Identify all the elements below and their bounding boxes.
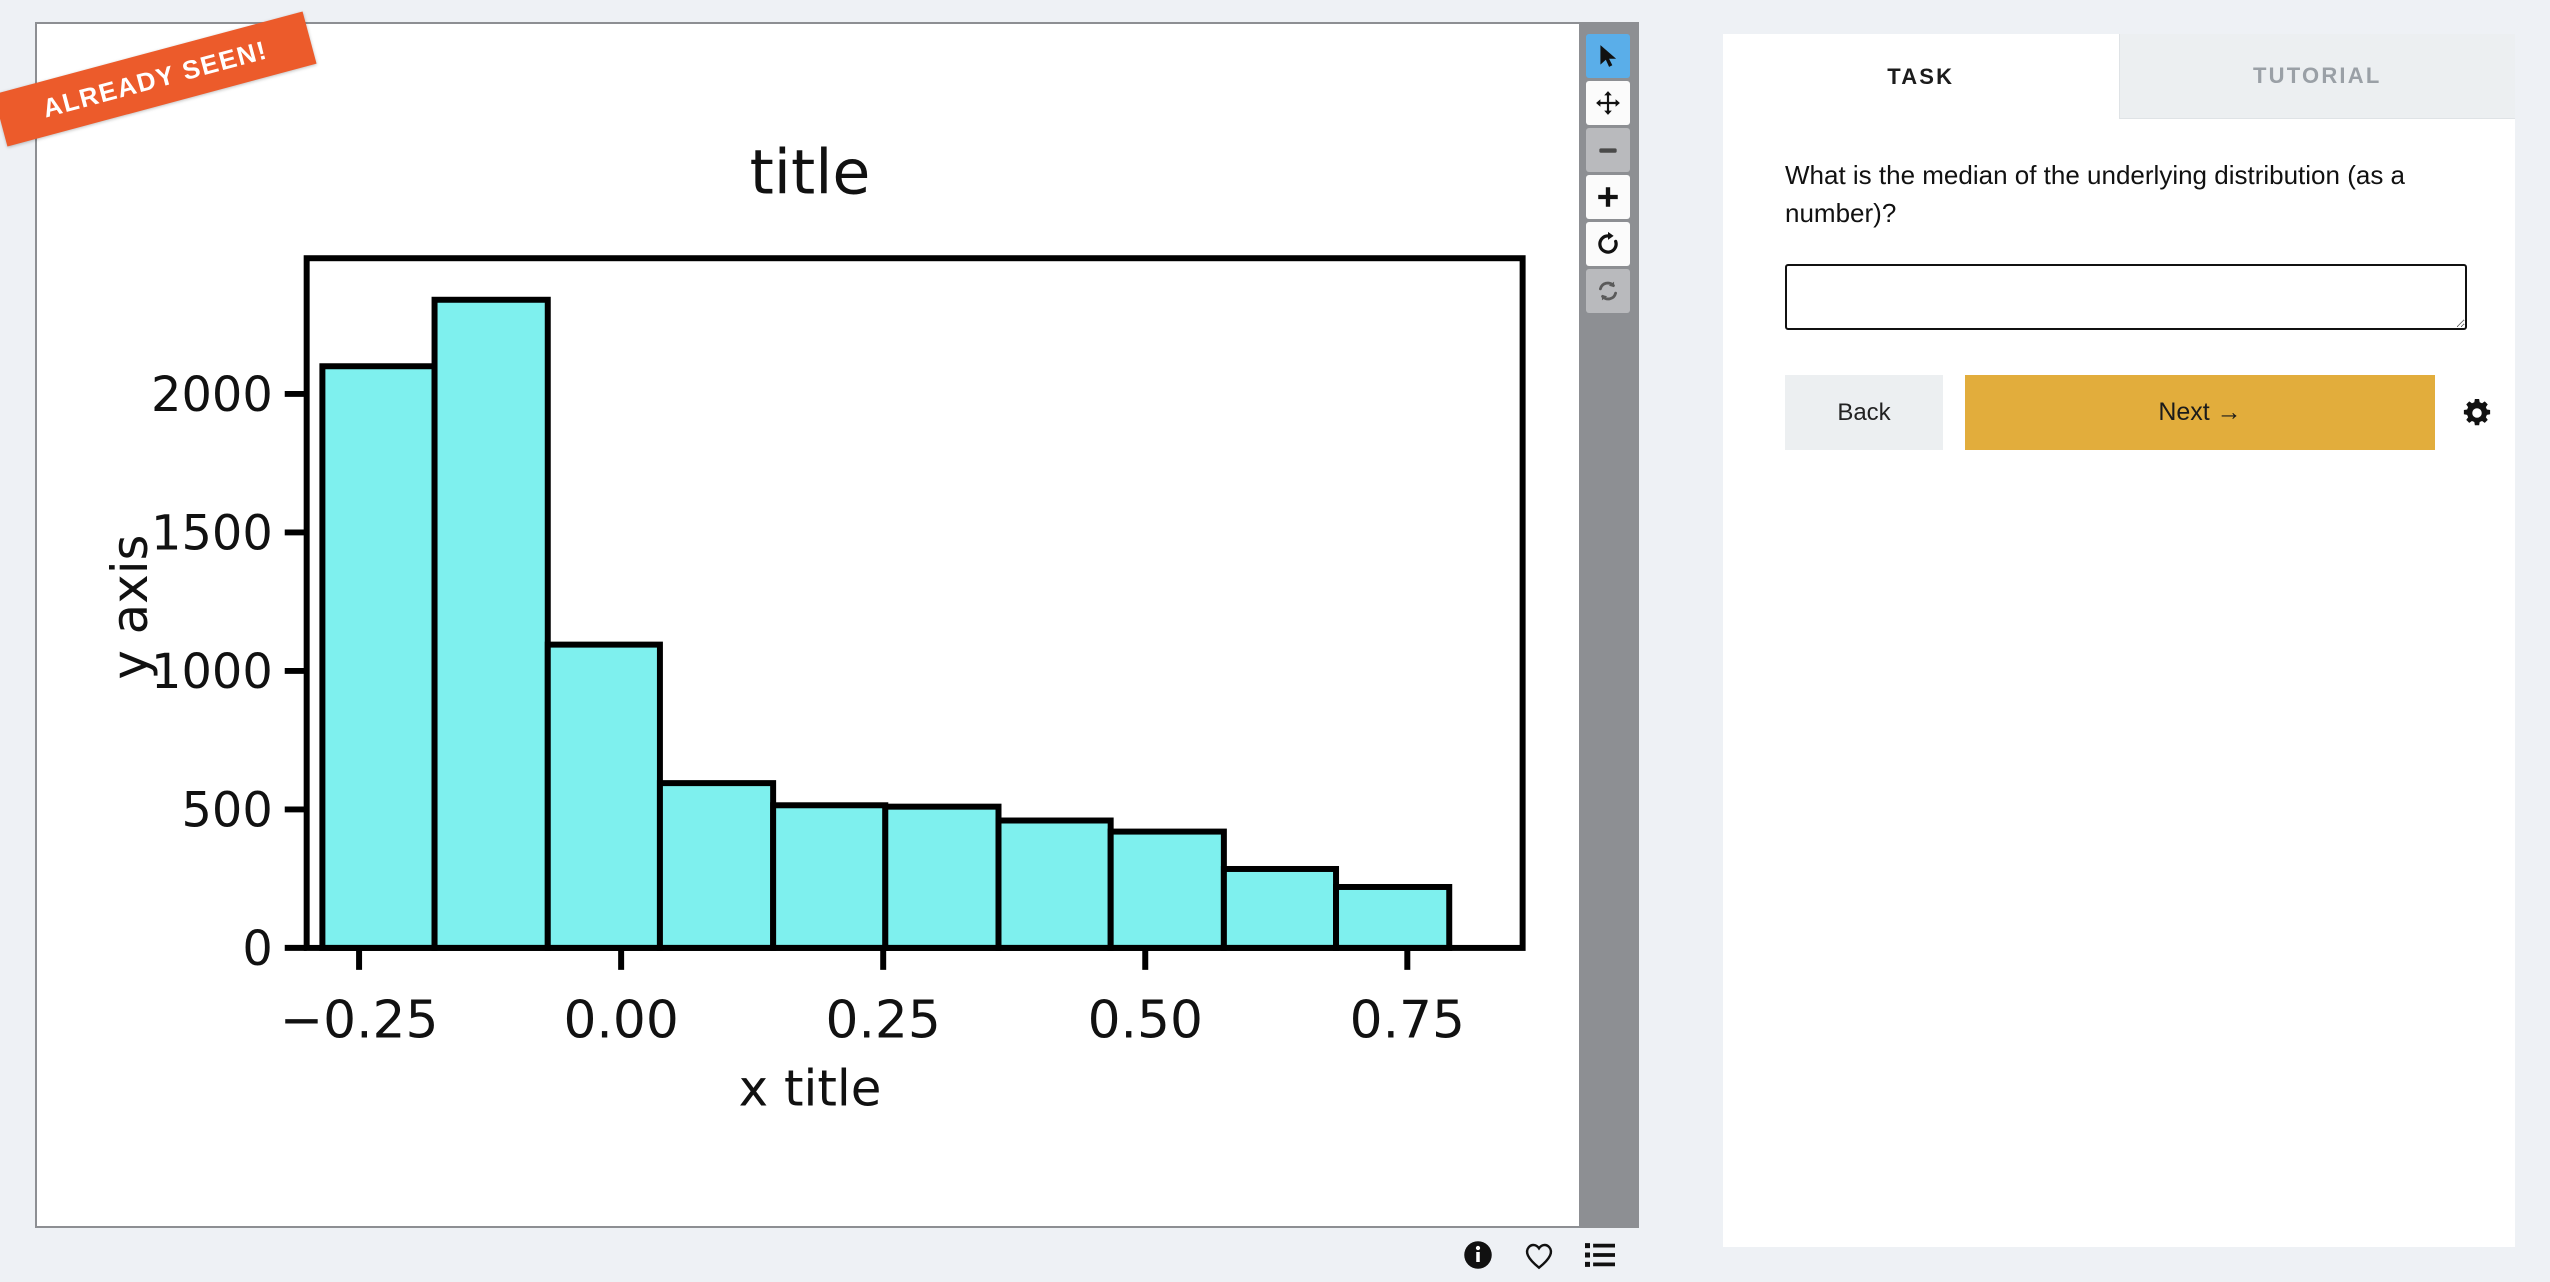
- reset-icon[interactable]: [1586, 222, 1630, 266]
- histogram-bar: [435, 300, 548, 948]
- move-icon[interactable]: [1586, 81, 1630, 125]
- x-tick-label: 0.25: [826, 991, 941, 1051]
- y-tick-label: 1500: [151, 506, 273, 561]
- x-axis-label: x title: [739, 1059, 882, 1117]
- histogram-figure: title y axis x title 0500100015002000−0.…: [37, 24, 1579, 1226]
- chart-toolbar[interactable]: [1579, 24, 1637, 1226]
- info-icon[interactable]: [1463, 1240, 1493, 1270]
- y-tick-label: 2000: [151, 368, 273, 423]
- histogram-bar: [1336, 887, 1449, 948]
- pointer-icon[interactable]: [1586, 34, 1630, 78]
- tab-task-label: TASK: [1887, 64, 1954, 90]
- histogram-bar: [999, 821, 1111, 948]
- sync-icon: [1586, 269, 1630, 313]
- histogram-bar: [1224, 869, 1336, 948]
- task-panel: TASK TUTORIAL What is the median of the …: [1723, 34, 2515, 1247]
- plot-canvas[interactable]: title y axis x title 0500100015002000−0.…: [37, 24, 1579, 1226]
- histogram-bar: [773, 805, 885, 948]
- zoom-out-icon: [1586, 128, 1630, 172]
- tab-tutorial-label: TUTORIAL: [2253, 63, 2381, 89]
- tab-task[interactable]: TASK: [1723, 34, 2119, 119]
- next-button[interactable]: Next →: [1965, 375, 2435, 450]
- histogram-bar: [548, 645, 660, 948]
- x-tick-label: 0.75: [1350, 991, 1465, 1051]
- question-text: What is the median of the underlying dis…: [1785, 157, 2453, 232]
- histogram-bar: [885, 807, 998, 948]
- back-button[interactable]: Back: [1785, 375, 1943, 450]
- x-tick-label: 0.50: [1088, 991, 1203, 1051]
- tab-tutorial[interactable]: TUTORIAL: [2119, 34, 2516, 119]
- gear-icon[interactable]: [2457, 375, 2497, 450]
- plot-card: title y axis x title 0500100015002000−0.…: [35, 22, 1639, 1228]
- x-tick-label: −0.25: [280, 991, 439, 1051]
- histogram-bar: [322, 366, 434, 948]
- zoom-in-icon[interactable]: [1586, 175, 1630, 219]
- histogram-bar: [1111, 832, 1224, 948]
- chart-title: title: [750, 136, 871, 208]
- bottom-icon-strip: [35, 1228, 1639, 1282]
- y-tick-label: 0: [242, 922, 272, 977]
- favorite-icon[interactable]: [1523, 1240, 1555, 1270]
- y-tick-label: 500: [181, 783, 272, 838]
- panel-tabs[interactable]: TASK TUTORIAL: [1723, 34, 2515, 119]
- x-tick-label: 0.00: [563, 991, 678, 1051]
- list-icon[interactable]: [1585, 1241, 1615, 1269]
- action-button-row: Back Next →: [1785, 375, 2515, 450]
- histogram-bar: [660, 783, 773, 948]
- answer-input[interactable]: [1785, 264, 2467, 330]
- y-tick-label: 1000: [151, 645, 273, 700]
